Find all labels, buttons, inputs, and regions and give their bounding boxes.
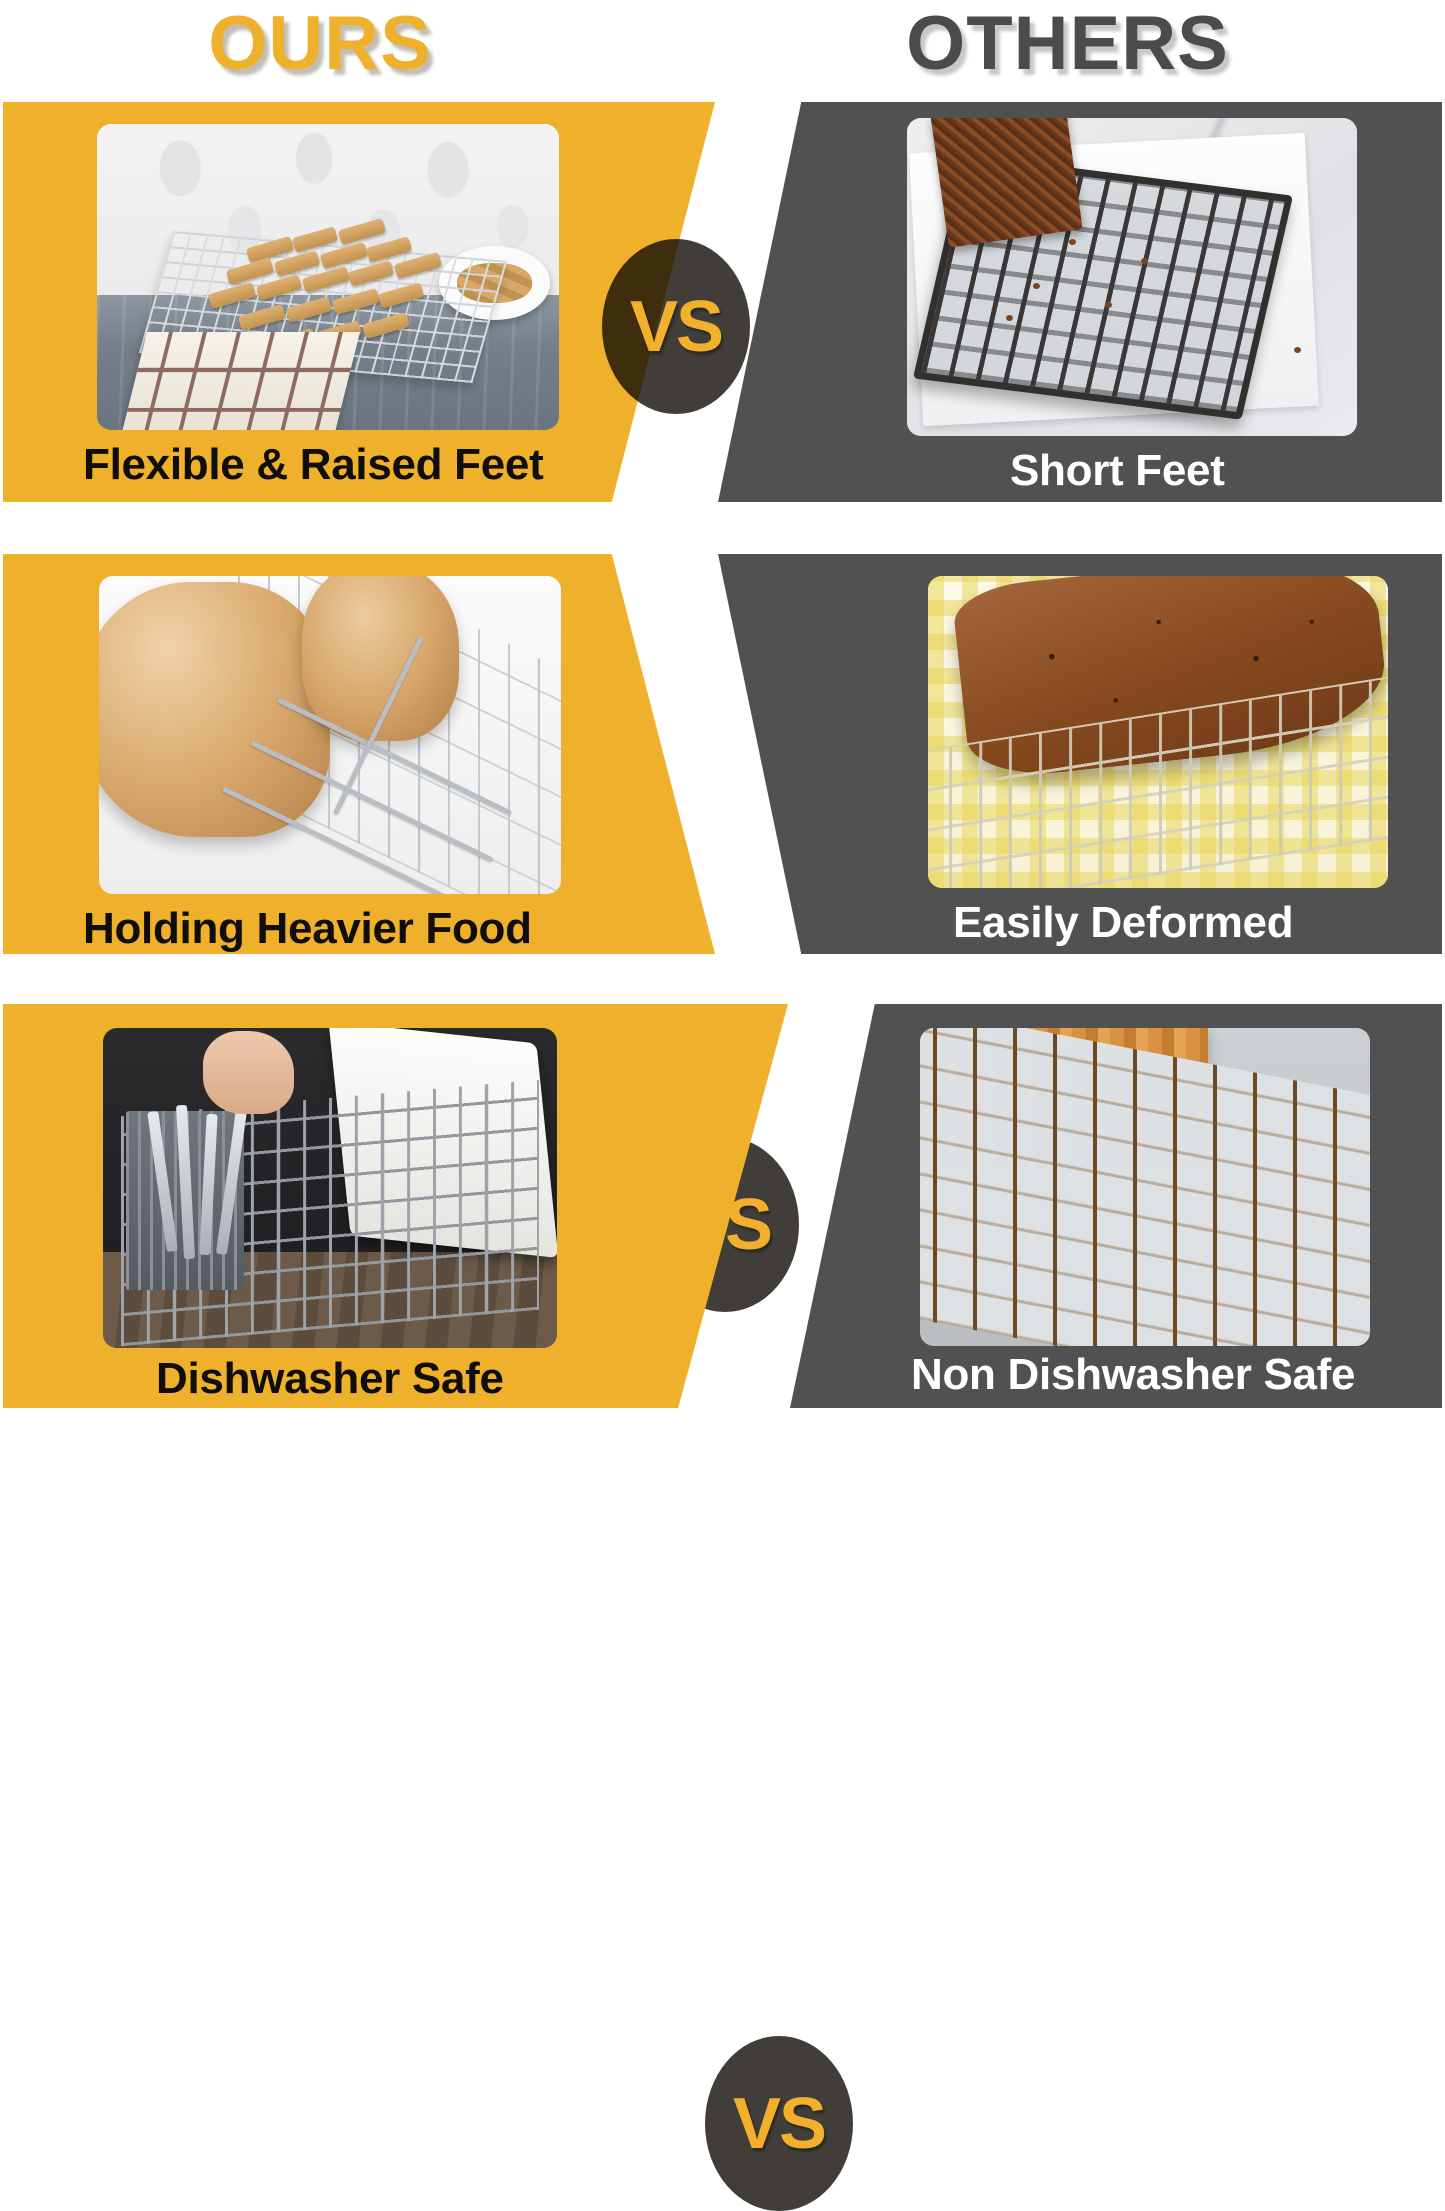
ours-panel-row-2: Holding Heavier Food [3,554,715,954]
header-ours: OURS [0,0,640,91]
comparison-row-1: Flexible & Raised Feet Short Feet VS [0,102,1445,502]
vs-badge-row-3: VS [705,2036,853,2211]
header-others: OTHERS [690,0,1445,91]
others-panel-row-2: Easily Deformed [718,554,1442,954]
ours-photo-row-3 [103,1028,557,1348]
others-photo-row-2 [928,576,1388,888]
ours-caption-row-3: Dishwasher Safe [156,1354,504,1404]
ours-panel-row-3: Dishwasher Safe [3,1004,788,1408]
others-photo-row-3 [920,1028,1370,1346]
comparison-row-3: Dishwasher Safe Non Dishwasher Safe VS [0,1004,1445,1408]
ours-photo-row-2 [99,576,561,894]
vs-badge-row-1: VS [602,239,750,414]
ours-caption-row-1: Flexible & Raised Feet [83,440,543,490]
others-panel-row-1: Short Feet [718,102,1442,502]
comparison-row-2: Holding Heavier Food Easily Deformed VS [0,554,1445,954]
others-photo-row-1 [907,118,1357,436]
others-caption-row-3: Non Dishwasher Safe [911,1350,1355,1400]
ours-caption-row-2: Holding Heavier Food [83,904,532,954]
others-caption-row-2: Easily Deformed [953,898,1293,948]
others-panel-row-3: Non Dishwasher Safe [790,1004,1442,1408]
ours-photo-row-1 [97,124,559,430]
others-caption-row-1: Short Feet [1010,446,1225,496]
